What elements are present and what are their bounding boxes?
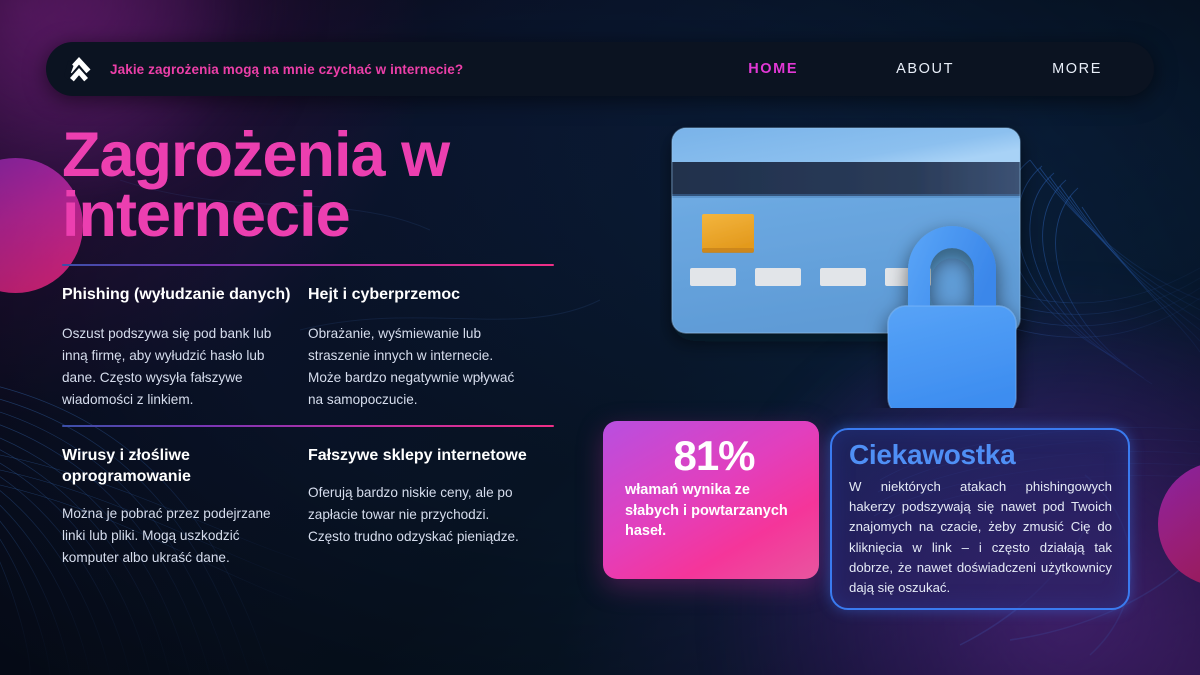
fact-card-title: Ciekawostka — [849, 440, 1112, 471]
threat-title: Hejt i cyberprzemoc — [308, 284, 528, 305]
nav-link-home[interactable]: HOME — [738, 55, 808, 83]
stat-card: 81% włamań wynika ze słabych i powtarzan… — [603, 421, 819, 579]
threat-body: Obrażanie, wyśmiewanie lub straszenie in… — [308, 323, 528, 411]
credit-card-with-padlock-illustration — [660, 118, 1080, 408]
threat-card-phishing: Phishing (wyłudzanie danych) Oszust pods… — [62, 268, 308, 411]
stat-label: włamań wynika ze słabych i powtarzanych … — [625, 480, 803, 542]
stat-number: 81% — [625, 434, 803, 478]
threat-title: Fałszywe sklepy internetowe — [308, 445, 528, 466]
divider-middle — [62, 425, 554, 427]
navbar: Jakie zagrożenia mogą na mnie czychać w … — [46, 42, 1154, 96]
threat-title: Wirusy i złośliwe oprogramowanie — [62, 445, 294, 487]
fact-card-body: W niektórych atakach phishingowych haker… — [849, 477, 1112, 599]
nav-links: HOME ABOUT MORE — [738, 55, 1154, 83]
fact-card: Ciekawostka W niektórych atakach phishin… — [830, 428, 1130, 610]
threat-body: Oferują bardzo niskie ceny, ale po zapła… — [308, 482, 528, 548]
left-content: Zagrożenia w internecie Phishing (wyłudz… — [62, 126, 562, 569]
brand[interactable]: Jakie zagrożenia mogą na mnie czychać w … — [46, 54, 463, 84]
nav-link-about[interactable]: ABOUT — [886, 55, 964, 83]
divider-top — [62, 264, 554, 266]
nav-link-more[interactable]: MORE — [1042, 55, 1112, 83]
brand-title: Jakie zagrożenia mogą na mnie czychać w … — [110, 62, 463, 77]
threats-row-2: Wirusy i złośliwe oprogramowanie Można j… — [62, 429, 562, 569]
threats-row-1: Phishing (wyłudzanie danych) Oszust pods… — [62, 268, 562, 411]
threat-title: Phishing (wyłudzanie danych) — [62, 284, 294, 305]
threat-card-hejt: Hejt i cyberprzemoc Obrażanie, wyśmiewan… — [308, 268, 542, 411]
threat-card-falszywe-sklepy: Fałszywe sklepy internetowe Oferują bard… — [308, 429, 542, 569]
threat-body: Można je pobrać przez podejrzane linki l… — [62, 503, 294, 569]
page-title: Zagrożenia w internecie — [62, 126, 492, 246]
threat-body: Oszust podszywa się pod bank lub inną fi… — [62, 323, 294, 411]
chevron-logo-icon — [62, 54, 96, 84]
threat-card-wirusy: Wirusy i złośliwe oprogramowanie Można j… — [62, 429, 308, 569]
